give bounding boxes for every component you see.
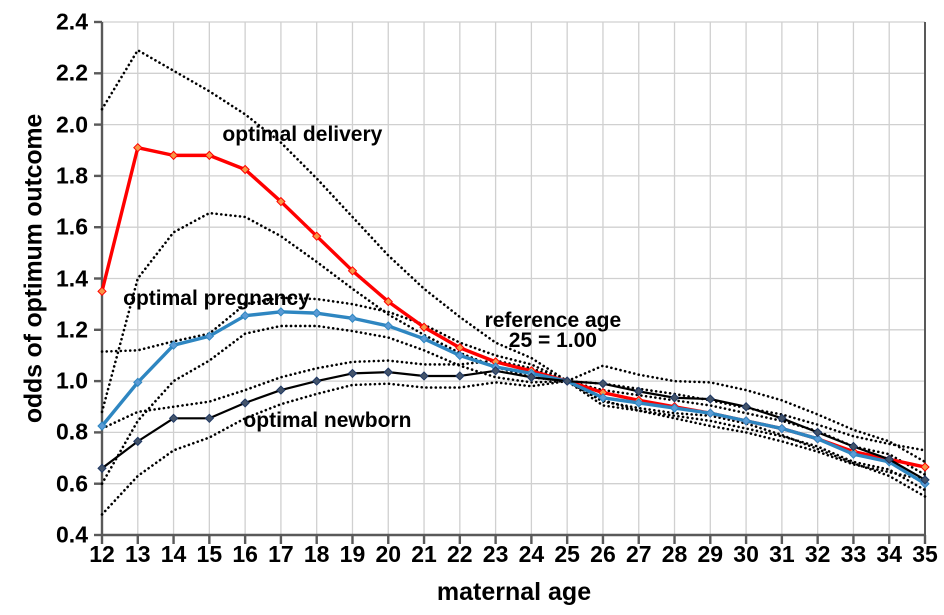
series-marker	[706, 395, 714, 403]
series-marker	[420, 372, 428, 380]
chart-annotation-label: optimal newborn	[243, 409, 411, 433]
series-marker	[921, 463, 929, 471]
series-marker	[98, 287, 106, 295]
x-tick-label: 33	[833, 541, 873, 568]
chart-figure: odds of optimum outcome maternal age 0.4…	[0, 0, 944, 615]
series-marker	[348, 369, 356, 377]
series-marker	[706, 409, 714, 417]
y-tick-label: 2.2	[26, 60, 88, 87]
series-line	[102, 371, 925, 480]
x-tick-label: 12	[82, 541, 122, 568]
x-tick-label: 13	[118, 541, 158, 568]
x-tick-label: 22	[440, 541, 480, 568]
chart-annotation-label: 25 = 1.00	[509, 329, 597, 353]
y-tick-label: 1.2	[26, 316, 88, 343]
series-marker	[671, 394, 679, 402]
chart-annotation-label: optimal delivery	[222, 123, 382, 147]
x-tick-label: 18	[297, 541, 337, 568]
x-tick-label: 25	[547, 541, 587, 568]
x-tick-label: 19	[332, 541, 372, 568]
y-tick-label: 1.8	[26, 162, 88, 189]
x-tick-label: 31	[762, 541, 802, 568]
series-marker	[814, 428, 822, 436]
y-tick-label: 0.6	[26, 470, 88, 497]
x-tick-label: 26	[583, 541, 623, 568]
y-tick-label: 0.8	[26, 419, 88, 446]
x-tick-label: 14	[154, 541, 194, 568]
y-tick-label: 1.0	[26, 368, 88, 395]
x-tick-label: 15	[189, 541, 229, 568]
series-marker	[384, 368, 392, 376]
y-tick-label: 0.4	[26, 522, 88, 549]
y-tick-label: 1.4	[26, 265, 88, 292]
y-tick-label: 2.0	[26, 111, 88, 138]
series-marker	[456, 372, 464, 380]
series-marker	[778, 425, 786, 433]
series-marker	[313, 309, 321, 317]
x-tick-label: 29	[690, 541, 730, 568]
x-tick-label: 17	[261, 541, 301, 568]
x-tick-label: 28	[655, 541, 695, 568]
confidence-band-upper	[102, 50, 925, 450]
x-tick-label: 27	[619, 541, 659, 568]
x-tick-label: 24	[511, 541, 551, 568]
x-tick-label: 32	[798, 541, 838, 568]
x-tick-label: 23	[476, 541, 516, 568]
x-tick-label: 34	[869, 541, 909, 568]
chart-annotation-label: optimal pregnancy	[123, 287, 310, 311]
series-marker	[134, 144, 142, 152]
x-tick-label: 21	[404, 541, 444, 568]
x-tick-label: 30	[726, 541, 766, 568]
x-tick-label: 16	[225, 541, 265, 568]
series-marker	[170, 151, 178, 159]
series-marker	[241, 399, 249, 407]
series-marker	[205, 414, 213, 422]
series-marker	[313, 377, 321, 385]
series-marker	[348, 314, 356, 322]
x-axis-title: maternal age	[102, 578, 926, 607]
series-marker	[277, 386, 285, 394]
x-tick-label: 20	[368, 541, 408, 568]
x-tick-label: 35	[905, 541, 944, 568]
y-tick-label: 2.4	[26, 9, 88, 36]
y-tick-label: 1.6	[26, 214, 88, 241]
